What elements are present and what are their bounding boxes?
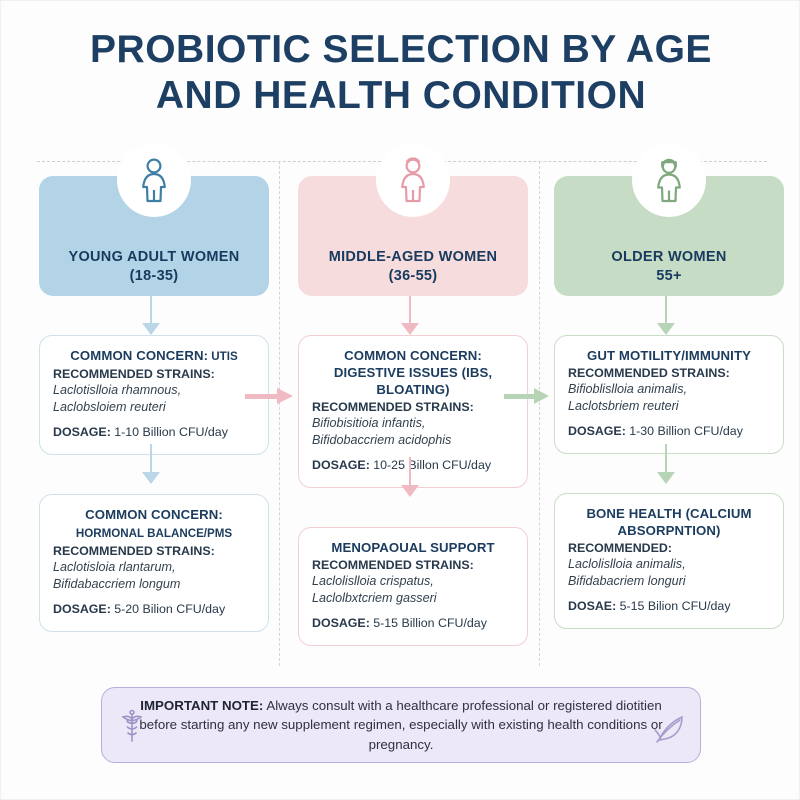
caduceus-icon	[112, 706, 152, 746]
card-title: MENOPAOUAL SUPPORT	[312, 539, 514, 556]
arrow-down	[657, 444, 675, 484]
card-gut-motility: GUT MOTILITY/IMMUNITY RECOMMENDED STRAIN…	[554, 335, 784, 454]
card-rec-label: RECOMMENDED STRAINS:	[312, 399, 514, 415]
card-rec-label: RECOMMENDED STRAINS:	[53, 543, 255, 559]
page-title: PROBIOTIC SELECTION BY AGE AND HEALTH CO…	[1, 27, 800, 119]
card-title-main: GUT MOTILITY/IMMUNITY	[587, 348, 751, 363]
title-line-2: AND HEALTH CONDITION	[1, 73, 800, 119]
header-young-adult-women: YOUNG ADULT WOMEN (18-35)	[39, 176, 269, 296]
card-strain-2: Laclolbxtcriem gasseri	[312, 590, 514, 607]
card-dosage: DOSAGE: 5-15 Billion CFU/day	[312, 615, 514, 632]
card-title-main: COMMON CONCERN:	[85, 507, 223, 522]
column-divider-2	[539, 161, 540, 666]
arrow-down	[142, 296, 160, 335]
column-middle-aged-women: MIDDLE-AGED WOMEN (36-55) COMMON CONCERN…	[298, 176, 528, 646]
dosage-value: 1-10 Billion CFU/day	[111, 425, 228, 439]
dosage-value: 1-30 Billion CFU/day	[626, 424, 743, 438]
arrow-right	[504, 388, 549, 404]
header-title: OLDER WOMEN	[611, 249, 726, 265]
woman-bun-icon-bubble	[376, 143, 450, 217]
column-young-adult-women: YOUNG ADULT WOMEN (18-35) COMMON CONCERN…	[39, 176, 269, 632]
title-line-1: PROBIOTIC SELECTION BY AGE	[1, 27, 800, 73]
header-older-women: OLDER WOMEN 55+	[554, 176, 784, 296]
header-subtitle: (18-35)	[39, 267, 269, 286]
header-label: YOUNG ADULT WOMEN (18-35)	[39, 248, 269, 286]
dosage-value: 10-25 Billon CFU/day	[370, 458, 491, 472]
card-dosage: DOSAE: 5-15 Bilion CFU/day	[568, 598, 770, 615]
woman-short-hair-icon-bubble	[632, 143, 706, 217]
dosage-value: 5-15 Bilion CFU/day	[616, 599, 730, 613]
card-strain-1: Bifioblislloia animalis,	[568, 381, 770, 398]
dosage-value: 5-15 Billion CFU/day	[370, 616, 487, 630]
card-strain-2: Laclotsbriem reuteri	[568, 398, 770, 415]
card-strain-2: Laclobsloiem reuteri	[53, 399, 255, 416]
card-dosage: DOSAGE: 1-30 Billion CFU/day	[568, 423, 770, 440]
card-menopausal-support: MENOPAOUAL SUPPORT RECOMMENDED STRAINS: …	[298, 527, 528, 646]
card-title: COMMON CONCERN: HORMONAL BALANCE/PMS	[53, 506, 255, 542]
card-rec-label: RECOMMENDED:	[568, 540, 770, 556]
important-note-banner: IMPORTANT NOTE: Always consult with a he…	[101, 687, 701, 763]
header-subtitle: (36-55)	[298, 267, 528, 286]
card-title: COMMON CONCERN: UTIS	[53, 347, 255, 365]
card-strain-1: Laclolislloia crispatus,	[312, 573, 514, 590]
card-title-main: MENOPAOUAL SUPPORT	[331, 540, 494, 555]
card-hormonal-balance: COMMON CONCERN: HORMONAL BALANCE/PMS REC…	[39, 494, 269, 632]
header-title: MIDDLE-AGED WOMEN	[329, 249, 498, 265]
arrow-down	[657, 296, 675, 335]
card-title-tail: HORMONAL BALANCE/PMS	[76, 527, 232, 540]
note-label: IMPORTANT NOTE:	[140, 698, 263, 713]
header-label: OLDER WOMEN 55+	[554, 248, 784, 286]
card-title-main: BONE HEALTH (CALCIUM	[586, 506, 751, 521]
header-middle-aged-women: MIDDLE-AGED WOMEN (36-55)	[298, 176, 528, 296]
card-strain-2: Bifidobaccriem acidophis	[312, 432, 514, 449]
card-strain-1: Laclotislloia rhamnous,	[53, 382, 255, 399]
arrow-right	[245, 388, 293, 404]
card-title: BONE HEALTH (CALCIUM ABSORPNTION)	[568, 505, 770, 539]
card-title-tail: ABSORPNTION)	[617, 523, 720, 538]
card-rec-label: RECOMMENDED STRAINS:	[568, 365, 770, 381]
card-strain-2: Bifidabacriem longuri	[568, 573, 770, 590]
card-title: COMMON CONCERN: DIGESTIVE ISSUES (IBS, B…	[312, 347, 514, 398]
woman-bun-icon	[392, 157, 434, 203]
woman-short-hair-icon	[648, 157, 690, 203]
arrow-down	[142, 444, 160, 484]
infographic-canvas: PROBIOTIC SELECTION BY AGE AND HEALTH CO…	[0, 0, 800, 800]
card-dosage: DOSAGE: 1-10 Billion CFU/day	[53, 424, 255, 441]
dosage-label: DOSAE:	[568, 599, 616, 613]
header-title: YOUNG ADULT WOMEN	[68, 249, 239, 265]
card-title: GUT MOTILITY/IMMUNITY	[568, 347, 770, 364]
card-dosage: DOSAGE: 5-20 Bilion CFU/day	[53, 601, 255, 618]
card-strain-1: Laclolislloia animalis,	[568, 556, 770, 573]
header-label: MIDDLE-AGED WOMEN (36-55)	[298, 248, 528, 286]
card-utis: COMMON CONCERN: UTIS RECOMMENDED STRAINS…	[39, 335, 269, 455]
column-divider-1	[279, 161, 280, 666]
card-bone-health: BONE HEALTH (CALCIUM ABSORPNTION) RECOMM…	[554, 493, 784, 629]
card-strain-1: Bifiobisitioia infantis,	[312, 415, 514, 432]
card-strain-1: Laclotisloia rlantarum,	[53, 559, 255, 576]
arrow-down	[401, 296, 419, 335]
card-rec-label: RECOMMENDED STRAINS:	[312, 557, 514, 573]
card-title-tail: UTIS	[208, 350, 238, 363]
dosage-label: DOSAGE:	[312, 458, 370, 472]
card-strain-2: Bifidabaccriem longum	[53, 576, 255, 593]
dosage-label: DOSAGE:	[53, 425, 111, 439]
arrow-down	[401, 457, 419, 497]
note-text: IMPORTANT NOTE: Always consult with a he…	[102, 696, 700, 755]
card-rec-label: RECOMMENDED STRAINS:	[53, 366, 255, 382]
column-older-women: OLDER WOMEN 55+ GUT MOTILITY/IMMUNITY RE…	[554, 176, 784, 629]
header-subtitle: 55+	[554, 267, 784, 286]
woman-icon	[133, 157, 175, 203]
card-title-main: COMMON CONCERN:	[70, 348, 208, 363]
dosage-label: DOSAGE:	[568, 424, 626, 438]
woman-icon-bubble	[117, 143, 191, 217]
dosage-label: DOSAGE:	[312, 616, 370, 630]
dosage-label: DOSAGE:	[53, 602, 111, 616]
leaf-icon	[650, 708, 690, 748]
dosage-value: 5-20 Bilion CFU/day	[111, 602, 225, 616]
